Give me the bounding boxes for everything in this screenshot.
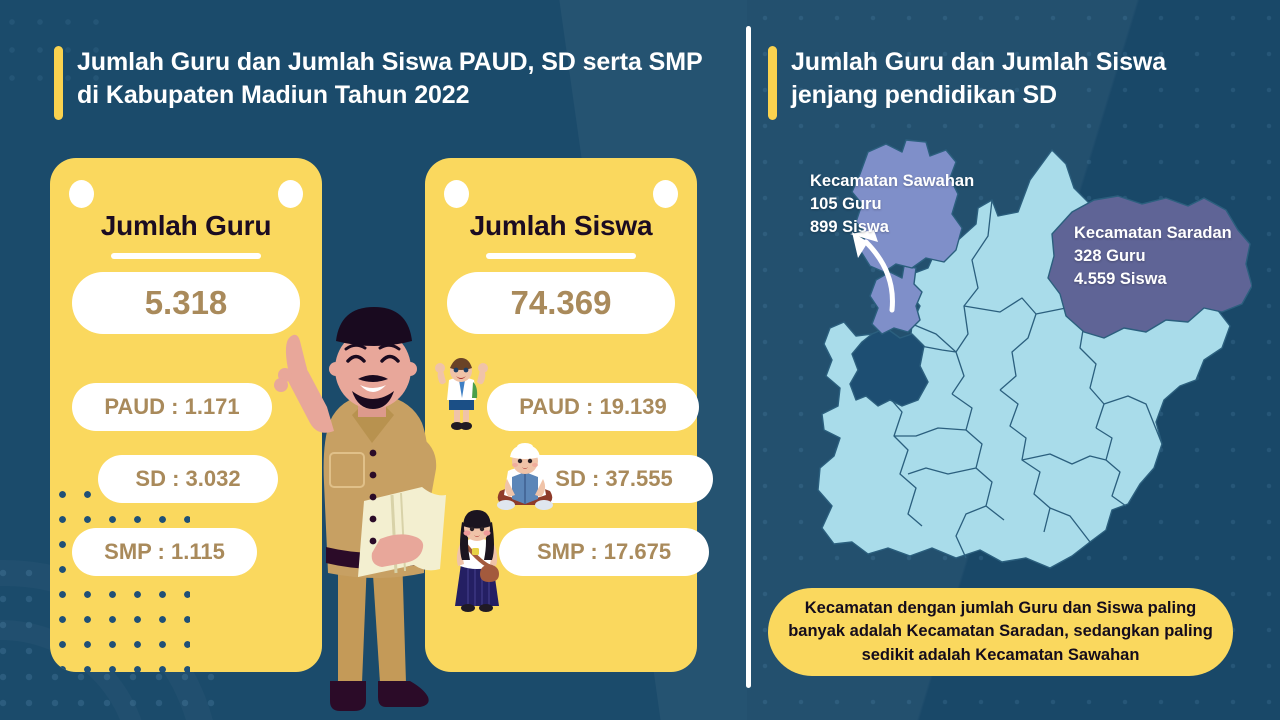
row-pill-paud: PAUD : 1.171 <box>72 383 272 431</box>
right-title-text: Jumlah Guru dan Jumlah Siswa jenjang pen… <box>791 46 1238 112</box>
row-pill-paud: PAUD : 19.139 <box>487 383 699 431</box>
infographic-canvas: Jumlah Guru dan Jumlah Siswa PAUD, SD se… <box>0 0 1280 720</box>
student-sd-illustration <box>490 443 560 513</box>
punch-hole-left-icon <box>444 180 469 208</box>
punch-hole-left-icon <box>69 180 94 208</box>
card-underline <box>486 253 636 259</box>
map-label-saradan: Kecamatan Saradan 328 Guru 4.559 Siswa <box>1074 222 1232 290</box>
map-label-sawahan-students: 899 Siswa <box>810 216 974 239</box>
card-title: Jumlah Guru <box>50 210 322 242</box>
total-value-pill: 74.369 <box>447 272 675 334</box>
row-pill-smp: SMP : 1.115 <box>72 528 257 576</box>
punch-hole-right-icon <box>653 180 678 208</box>
punch-hole-right-icon <box>278 180 303 208</box>
card-title: Jumlah Siswa <box>425 210 697 242</box>
card-dot-pattern <box>50 482 190 672</box>
title-accent-bar <box>54 46 63 120</box>
left-title-text: Jumlah Guru dan Jumlah Siswa PAUD, SD se… <box>77 46 714 112</box>
map-label-saradan-name: Kecamatan Saradan <box>1074 222 1232 245</box>
student-paud-illustration <box>432 358 490 434</box>
map-label-sawahan-name: Kecamatan Sawahan <box>810 170 974 193</box>
map-label-sawahan-teachers: 105 Guru <box>810 193 974 216</box>
map-label-saradan-students: 4.559 Siswa <box>1074 268 1232 291</box>
summary-caption: Kecamatan dengan jumlah Guru dan Siswa p… <box>768 588 1233 676</box>
row-pill-smp: SMP : 17.675 <box>499 528 709 576</box>
map-label-saradan-teachers: 328 Guru <box>1074 245 1232 268</box>
left-title: Jumlah Guru dan Jumlah Siswa PAUD, SD se… <box>54 46 714 120</box>
map-label-sawahan: Kecamatan Sawahan 105 Guru 899 Siswa <box>810 170 974 238</box>
total-value-pill: 5.318 <box>72 272 300 334</box>
row-pill-sd: SD : 3.032 <box>98 455 278 503</box>
card-underline <box>111 253 261 259</box>
student-smp-illustration <box>448 508 506 616</box>
right-title: Jumlah Guru dan Jumlah Siswa jenjang pen… <box>768 46 1238 120</box>
vertical-divider <box>746 26 751 688</box>
title-accent-bar <box>768 46 777 120</box>
